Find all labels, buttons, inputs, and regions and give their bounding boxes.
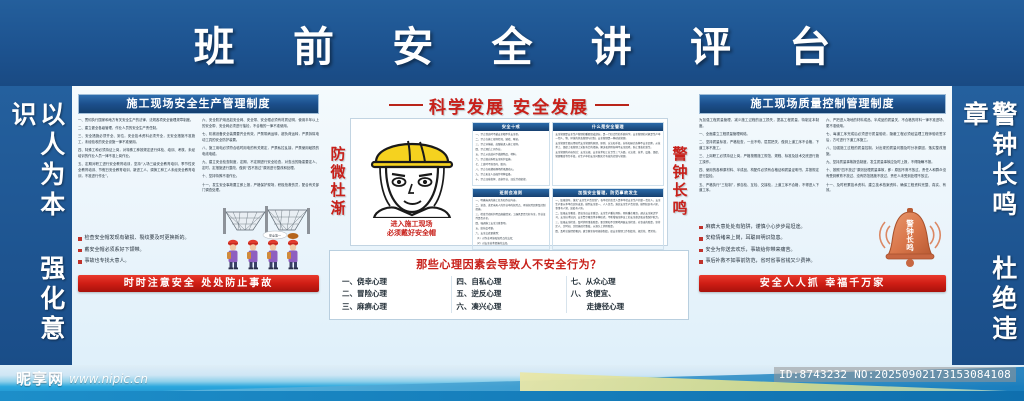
wave-shape-3 [0,391,1024,401]
right-panel-banner: 安全人人抓 幸福千万家 [699,275,946,292]
right-rules-column-2: 六、严把进入场地的材料成品、半成品的质量关，不合格的材料一律不准进场，更不准使用… [826,118,946,197]
rule-item: 四、特殊工种必须持证上岗，对特殊工种按规定进行体检、培训、考核，未经培训的作业人… [78,148,195,160]
center-panel: 科学发展 安全发展 防微杜渐 [325,86,693,365]
rule-item: 五、定期对职工进行安全教育培训，坚持“入场三级安全教育培训、季节性安全教育培训、… [78,162,195,180]
bullet-square-icon [699,249,703,253]
center-card: 进入施工现场 必须戴好安全帽 安全十戒 一、禁止登高时不戴安全帽不系安全带。 [350,118,668,246]
rule-item: 二、坚持质量标准，严格检查，一丝不苟，层层把关，做到上道工序不合格，下道工序不施… [699,140,819,152]
quad-line: 四、强调施工安全注意事项。 [476,222,547,226]
bullet-text: 麻痹大意处处有陷阱，谨慎小心步步是坦途。 [706,224,871,232]
list-item: 二、冒险心理 [342,288,447,300]
psychology-column-3: 七、从众心理 八、贪便宜、 走捷径心理 [566,276,680,313]
quad-body: 一、明确当天的施工任务和作业内容。 二、讲清、讲足当天人的作业中的危险点、环境危… [473,197,549,249]
quad-line: 四、及时总结经验教训，建立健全各项规章制度，使安全管理工作制度化、规范化、经常化… [555,230,660,234]
quad-body: 安全管理是安全生产管理的重要组成部分，是一门综合性的系统科学。安全管理的对象是生… [553,131,663,185]
right-panel-rules: 为加强工程质量管理，减少施工过程的返工损失，提高工程质量，特制定本制度。 一、全… [699,118,946,197]
quad-line: （1）对作业环境和危险点的交底； [476,237,547,241]
rule-item: 十、坚持特殊不准作业。 [202,174,319,180]
rule-item: 四、使用的各种原材料、半成品、构配件必须有合格证和质量证明书，并按规定进行复检。 [699,168,819,180]
quad-heading: 加强安全管理，防范事故发生 [553,189,663,197]
rule-item: 六、严把进入场地的材料成品、半成品的质量关，不合格的材料一律不准进场，更不准使用… [826,118,946,130]
left-panel-bullets: 检查安全帽发现有破损、裂纹要及时更换新的。 戴安全帽必须系好下颌带。 事故也专找… [78,235,211,270]
rule-item: 九、坚持质量事故报告制度，发生质量事故应及时上报，不得隐瞒不报。 [826,160,946,166]
psychology-column-1: 一、侥幸心理 二、冒险心理 三、麻痹心理 [338,276,451,313]
watermark-brand: 昵享网 [16,368,64,389]
quad-line: 五、禁止从高处向下抛掷物品、材料。 [476,153,547,157]
quad-line: 八、禁止在易燃易爆场所吸烟动火。 [476,168,547,172]
rule-item: 五、严格执行“三检制”，即自检、互检、交接检，上道工序不合格，不得进入下道工序。 [699,183,819,195]
quad-line: 安全管理主要运用现代安全管理的原理、原则、方法和手段，分析和研究各种不安全因素，… [555,142,660,150]
rule-item: 八、加强施工过程的质量控制，对出现的质量问题及时分析原因，落实整改措施。 [826,146,946,158]
list-item: 八、贪便宜、 [571,288,676,300]
quad-line: 一、明确当天的施工任务和作业内容。 [476,199,547,203]
bullet-square-icon [78,249,82,253]
bullet-square-icon [78,260,82,264]
rule-item: 一、贯彻执行国家和地方有关安全生产的法律、法规各项安全管理规章制度。 [78,118,195,124]
quad-cell-safety-ten-rules: 安全十戒 一、禁止登高时不戴安全帽不系安全带。 二、禁止在施工现场打闹、嬉戏、睡… [472,122,550,186]
right-side-slogan-panel: 警钟长鸣 杜绝违章 [952,86,1024,365]
quad-line: 三、检查劳动防护用品佩戴情况，工器具是否完好齐全，作业证件是否齐全。 [476,213,547,221]
poster-board: 班 前 安 全 讲 评 台 以人为本 强化意识 警钟长鸣 杜绝违章 施工现场安全… [0,0,1024,365]
list-item: 安稳情绪来上岗，耳聪目明识隐患。 [699,235,870,243]
quad-line: 安全管理的内容包括：安全法规、安全技术和工业卫生三个方面，以法律、技术、设备、组… [555,151,660,159]
left-panel-rules: 一、贯彻执行国家和地方有关安全生产的法律、法规各项安全管理规章制度。 二、建立健… [78,118,319,197]
quad-heading: 什么是安全管理 [553,123,663,131]
bullet-square-icon [699,226,703,230]
poster-title: 班 前 安 全 讲 评 台 [172,13,853,73]
bullet-square-icon [699,237,703,241]
right-panel-heading: 施工现场质量控制管理制度 [699,94,946,114]
right-rules-column-1: 为加强工程质量管理，减少施工过程的返工损失，提高工程质量，特制定本制度。 一、全… [699,118,819,197]
list-item: 五、逆反心理 [456,288,561,300]
quad-line: 二、讲清、讲足当天人的作业中的危险点、环境危险因素及控制措施。 [476,204,547,212]
bullet-square-icon [699,260,703,264]
psychology-column-2: 四、自私心理 五、逆反心理 六、凑兴心理 [451,276,565,313]
rule-item: 十一、发生安全事故要立即上报，严格保护现场，积极抢救伤员，配合有关部门调查处理。 [202,183,319,195]
left-side-slogan-panel: 以人为本 强化意识 [0,86,72,365]
quad-line: 二、禁止在施工现场打闹、嬉戏、睡觉。 [476,138,547,142]
quad-line: 七、上班时不准串岗、脱岗。 [476,163,547,167]
rule-item: 三、上岗职工必须持证上岗，严格按照施工规范、规程、标准及技术交底进行施工操作。 [699,154,819,166]
left-panel-heading: 施工现场安全生产管理制度 [78,94,319,114]
bullet-square-icon [78,237,82,241]
bullet-text: 安稳情绪来上岗，耳聪目明识隐患。 [706,235,871,243]
list-item: 七、从众心理 [571,276,676,288]
bullet-text: 安全为你送去欢乐，事故给你带来痛苦。 [706,247,871,255]
list-item: 安全为你送去欢乐，事故给你带来痛苦。 [699,247,870,255]
rule-item: 十、按照“四不放过”原则处理质量事故，即：原因不清不放过、责任人和群众没有受到教… [826,168,946,180]
title-rule-left [389,104,423,106]
quad-line: 三、加强安全检查，及时消除事故隐患。要定期和不定期地开展安全检查，对查出的隐患，… [555,221,660,229]
quad-line: 一、禁止登高时不戴安全帽不系安全带。 [476,133,547,137]
helmet-caption: 进入施工现场 必须戴好安全帽 [387,219,436,238]
list-item: 走捷径心理 [571,301,676,313]
bullet-text: 事后补救不如事前防范，省时省事省钱又少费神。 [706,258,871,266]
quad-row-bottom: 班前会准则 一、明确当天的施工任务和作业内容。 二、讲清、讲足当天人的作业中的危… [472,188,664,250]
rule-item: 三、安全措施必须齐全、到位，安全技术资料必须齐全，无安全措施不准施工，未经验收的… [78,134,195,146]
poster-inner-content: 施工现场安全生产管理制度 一、贯彻执行国家和地方有关安全生产的法律、法规各项安全… [72,86,952,365]
rule-item: 九、建立安全检查制度，定期、不定期进行安全检查，对查出的隐患要定人、定时、定措施… [202,160,319,172]
quad-body: 一、加强领导，落实“安全生产责任制”。各单位的负责人是本单位安全生产的第一责任人… [553,197,663,249]
safety-net-illustration: 安全第一 [215,200,319,270]
quad-heading: 班前会准则 [473,189,549,197]
list-item: 麻痹大意处处有陷阱，谨慎小心步步是坦途。 [699,224,870,232]
rule-item: 二、建立健全各级管理、作业人员的安全生产责任制。 [78,126,195,132]
quad-cell-pre-shift-meeting-rules: 班前会准则 一、明确当天的施工任务和作业内容。 二、讲清、讲足当天人的作业中的危… [472,188,550,250]
bullet-text: 事故也专找大意人。 [85,258,212,266]
list-item: 检查安全帽发现有破损、裂纹要及时更换新的。 [78,235,211,243]
center-title-row: 科学发展 安全发展 [329,92,689,118]
worker-helmet-icon [356,122,468,218]
quad-line: 六、安全交底要做到： [476,232,547,236]
helmet-caption-line2: 必须戴好安全帽 [387,228,436,237]
left-side-slogan: 以人为本 强化意识 [7,101,65,351]
right-panel-bottom-row: 麻痹大意处处有陷阱，谨慎小心步步是坦途。 安稳情绪来上岗，耳聪目明识隐患。 安全… [699,200,946,270]
rule-item: 十一、及时积累技术资料，建立技术档案资料，确保工程资料完整、真实、有效。 [826,183,946,195]
safety-net-icon: 安全第一 [215,200,319,270]
quad-line: 五、班前会考勤。 [476,227,547,231]
right-panel: 施工现场质量控制管理制度 为加强工程质量管理，减少施工过程的返工损失，提高工程质… [693,86,952,365]
bullet-text: 检查安全帽发现有破损、裂纹要及时更换新的。 [85,235,212,243]
title-rule-right [595,104,629,106]
quad-line: （2）对安全技术措施的交底。 [476,242,547,246]
right-panel-bullets: 麻痹大意处处有陷阱，谨慎小心步步是坦途。 安稳情绪来上岗，耳聪目明识隐患。 安全… [699,224,870,270]
left-panel-bottom-row: 检查安全帽发现有破损、裂纹要及时更换新的。 戴安全帽必须系好下颌带。 事故也专找… [78,200,319,270]
list-item: 一、侥幸心理 [342,276,447,288]
helmet-illustration-box: 进入施工现场 必须戴好安全帽 [354,122,469,242]
rule-item: 八、施工用电必须符合临时用电的有关规定，严禁私拉乱接，严禁使用破损的电线电缆。 [202,146,319,158]
rule-item: 七、每道工序完成后必须进行质量验收，隐蔽工程必须经监理工程师验收签字后，方可进行… [826,132,946,144]
list-item: 六、凑兴心理 [456,301,561,313]
quad-line: 三、禁止穿拖鞋、高跟鞋进入施工现场。 [476,143,547,147]
alarm-bell-illustration: 警 钟 长 鸣 [874,200,946,270]
bullet-text: 戴安全帽必须系好下颌带。 [85,247,212,255]
rule-item: 六、安全防护用品如安全网、安全带、安全帽必须有材质证明，使用半年以上的安全带、安… [202,118,319,130]
left-panel: 施工现场安全生产管理制度 一、贯彻执行国家和地方有关安全生产的法律、法规各项安全… [72,86,325,365]
list-item: 戴安全帽必须系好下颌带。 [78,247,211,255]
list-item: 事故也专找大意人。 [78,258,211,266]
quad-line: 十、禁止违章指挥、违章作业、违反劳动纪律。 [476,178,547,182]
svg-text:安全第一: 安全第一 [269,232,281,237]
quad-body: 一、禁止登高时不戴安全帽不系安全带。 二、禁止在施工现场打闹、嬉戏、睡觉。 三、… [473,131,549,185]
psychology-title: 那些心理因素会导致人不安全行为？ [338,256,680,272]
left-rules-column-1: 一、贯彻执行国家和地方有关安全生产的法律、法规各项安全管理规章制度。 二、建立健… [78,118,195,197]
quad-line: 二、加强安全教育，提高全员安全意识。安全生产重在预防，预防重在教育，通过安全知识… [555,212,660,220]
list-item: 事后补救不如事前防范，省时省事省钱又少费神。 [699,258,870,266]
quad-grid: 安全十戒 一、禁止登高时不戴安全帽不系安全带。 二、禁止在施工现场打闹、嬉戏、睡… [472,122,664,242]
svg-text:鸣: 鸣 [906,242,914,252]
center-left-vertical-slogan: 防微杜渐 [329,118,347,246]
center-right-vertical-slogan: 警钟长鸣 [671,118,689,246]
left-rules-column-2: 六、安全防护用品如安全网、安全带、安全帽必须有材质证明，使用半年以上的安全带、安… [202,118,319,197]
watermark-id: ID:8743232 NO:20250902173153084108 [774,367,1016,382]
list-item: 四、自私心理 [456,276,561,288]
watermark-logo: 昵享网 www.nipic.cn [16,368,148,389]
quad-line: 六、禁止擅自拆除安全防护设施。 [476,158,547,162]
quad-cell-strengthen-safety-management: 加强安全管理，防范事故发生 一、加强领导，落实“安全生产责任制”。各单位的负责人… [552,188,664,250]
quad-line: 九、禁止无证人员操作特种设备。 [476,173,547,177]
rule-item: 七、机械设备安全装置要齐全有效，严禁带病运转、超负荷运转，严禁拆除电动工具的安全… [202,132,319,144]
psychology-columns: 一、侥幸心理 二、冒险心理 三、麻痹心理 四、自私心理 五、逆反心理 六、凑兴心… [338,276,680,313]
poster-canvas: 昵享网 www.nipic.cn ID:8743232 NO:202509021… [0,0,1024,401]
quad-line: 安全管理是安全生产管理的重要组成部分，是一门综合性的系统科学。安全管理的对象是生… [555,133,660,141]
poster-title-bar: 班 前 安 全 讲 评 台 [0,0,1024,86]
watermark-url: www.nipic.cn [69,372,148,386]
center-title: 科学发展 安全发展 [429,93,589,118]
left-panel-banner: 时时注意安全 处处防止事故 [78,275,319,292]
psychology-box: 那些心理因素会导致人不安全行为？ 一、侥幸心理 二、冒险心理 三、麻痹心理 四、… [329,250,689,320]
rule-item: 为加强工程质量管理，减少施工过程的返工损失，提高工程质量，特制定本制度。 [699,118,819,130]
right-side-slogan: 警钟长鸣 杜绝违章 [959,101,1017,351]
quad-row-top: 安全十戒 一、禁止登高时不戴安全帽不系安全带。 二、禁止在施工现场打闹、嬉戏、睡… [472,122,664,186]
bell-icon: 警 钟 长 鸣 [874,200,946,270]
quad-heading: 安全十戒 [473,123,549,131]
rule-item: 一、全面建立工程质量管理网络。 [699,132,819,138]
quad-line: 一、加强领导，落实“安全生产责任制”。各单位的负责人是本单位安全生产的第一责任人… [555,199,660,211]
list-item: 三、麻痹心理 [342,301,447,313]
quad-line: 四、禁止酒后上岗作业。 [476,148,547,152]
helmet-caption-line1: 进入施工现场 [387,219,436,228]
center-body: 防微杜渐 [329,118,689,246]
quad-cell-what-is-safety-management: 什么是安全管理 安全管理是安全生产管理的重要组成部分，是一门综合性的系统科学。安… [552,122,664,186]
